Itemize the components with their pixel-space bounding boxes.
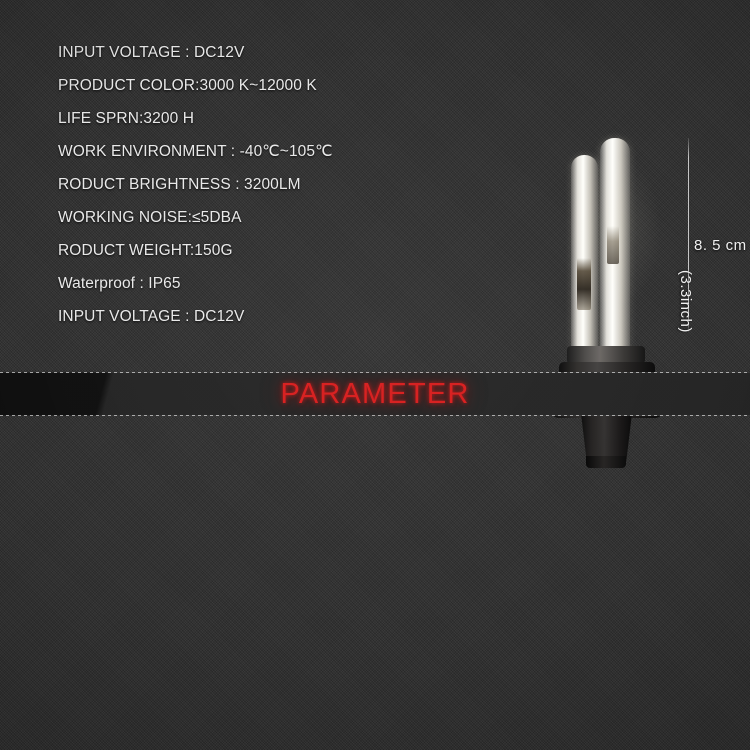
spec-item: RODUCT WEIGHT:150G	[58, 234, 333, 267]
bulb-spec-list: INPUT VOLTAGE : DC12V PRODUCT COLOR:3000…	[58, 36, 333, 333]
spec-item: INPUT VOLTAGE : DC12V	[58, 300, 333, 333]
spec-item: WORKING NOISE:≤5DBA	[58, 201, 333, 234]
parameter-banner: PARAMETER	[0, 372, 750, 416]
spec-item: PRODUCT COLOR:3000 K~12000 K	[58, 69, 333, 102]
spec-item: RODUCT BRIGHTNESS : 3200LM	[58, 168, 333, 201]
hid-bulb-image	[545, 130, 685, 355]
bulb-filament	[577, 258, 591, 310]
bulb-electrode	[607, 226, 619, 264]
bulb-dimension-metric: 8. 5 cm	[694, 237, 747, 254]
spec-item: Waterproof : IP65	[58, 267, 333, 300]
bulb-front-glass-tube	[571, 155, 598, 350]
bulb-dimension-imperial: (3.3inch)	[677, 270, 694, 333]
spec-item: LIFE SPRN:3200 H	[58, 102, 333, 135]
banner-title: PARAMETER	[0, 372, 750, 416]
bottom-spec-panel: Output CURRENT : DC Models available : a…	[0, 416, 750, 750]
product-spec-sheet: INPUT VOLTAGE : DC12V PRODUCT COLOR:3000…	[0, 0, 750, 750]
top-spec-panel: INPUT VOLTAGE : DC12V PRODUCT COLOR:3000…	[0, 0, 750, 372]
spec-item: INPUT VOLTAGE : DC12V	[58, 36, 333, 69]
spec-item: WORK ENVIRONMENT : -40℃~105℃	[58, 135, 333, 168]
